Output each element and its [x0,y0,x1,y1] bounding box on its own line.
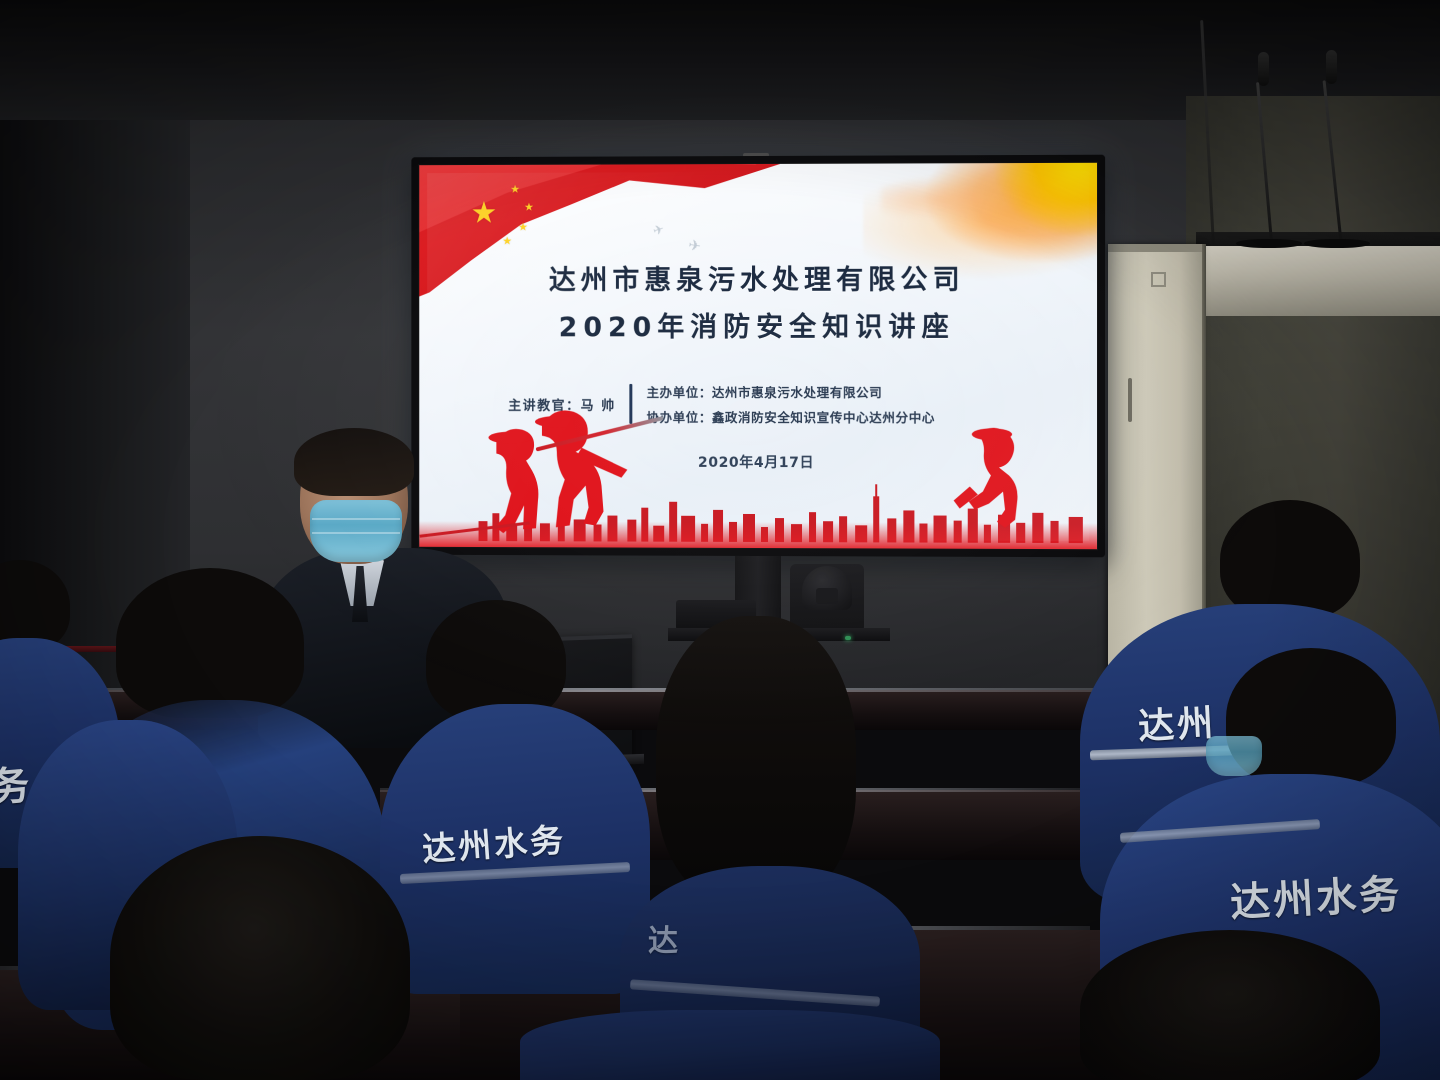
camera-lens-icon [816,588,838,604]
presenter-hair [294,428,414,496]
gooseneck-microphone-1 [1258,52,1274,242]
uniform-text-mid-1: 达州水务 [421,813,568,871]
status-led-green [845,636,851,640]
face-mask-right [1206,736,1262,776]
long-hair [656,616,856,906]
uniform-text-right-1: 达州 [1137,694,1218,750]
gooseneck-microphone-2 [1326,50,1342,242]
face-mask [310,500,402,562]
wall-television[interactable]: ★ ★ ★ ★ ★ ✈ ✈ 达州市惠泉污水处理有限公司 2020年消防安全知识讲… [411,155,1105,558]
mask-fold-1 [312,518,400,520]
tv-bezel [411,155,1105,558]
microphone-cable [1206,20,1210,244]
uniform-text-mid-2: 达 [648,916,681,960]
uniform-text-right-2: 达州水务 [1229,862,1404,929]
podium-face [1196,246,1440,316]
meeting-room-scene: ★ ★ ★ ★ ★ ✈ ✈ 达州市惠泉污水处理有限公司 2020年消防安全知识讲… [0,0,1440,1080]
cabinet-top-edge [1108,244,1204,252]
cabinet-lock-icon [1151,272,1166,287]
mask-fold-2 [312,532,400,534]
cabinet-handle [1128,378,1132,422]
